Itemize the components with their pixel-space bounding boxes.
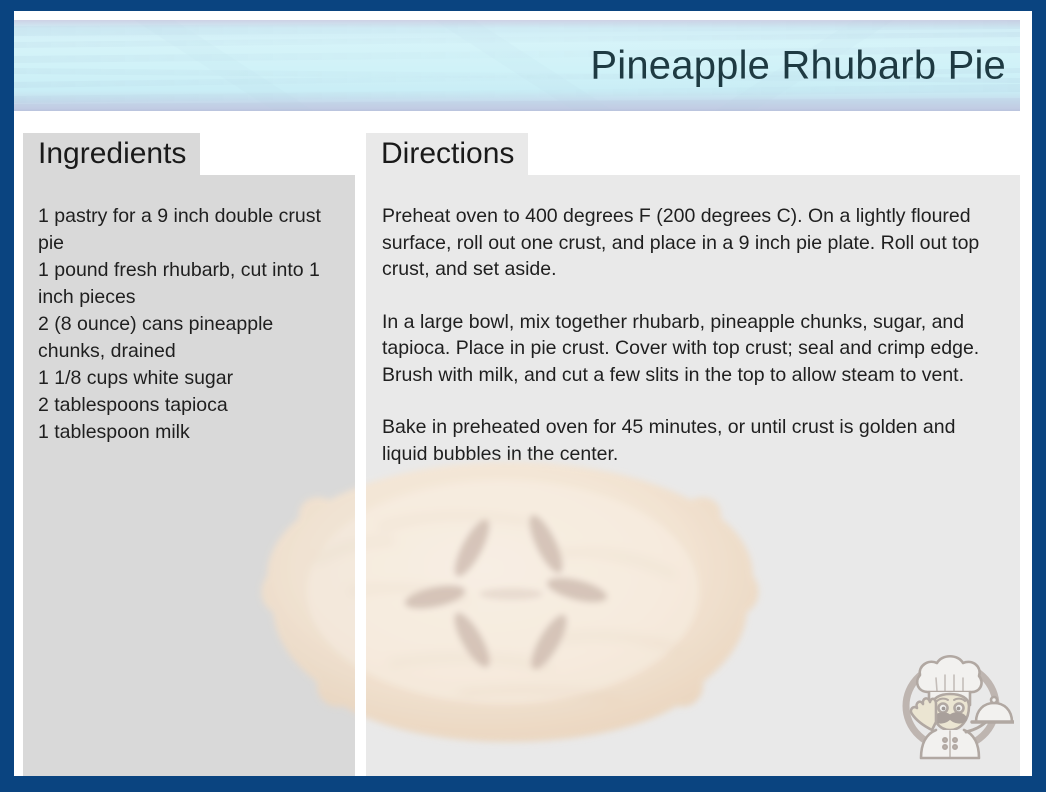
directions-steps: Preheat oven to 400 degrees F (200 degre… [366, 175, 1020, 467]
ingredients-heading: Ingredients [23, 133, 200, 175]
card-inner: Pineapple Rhubarb Pie Ingredients 1 past… [14, 11, 1032, 776]
list-item: 2 tablespoons tapioca [38, 392, 343, 419]
list-item: 1 pound fresh rhubarb, cut into 1 inch p… [38, 257, 343, 311]
list-item: 1 pastry for a 9 inch double crust pie [38, 203, 343, 257]
direction-paragraph: In a large bowl, mix together rhubarb, p… [382, 309, 1006, 389]
recipe-card-page: Pineapple Rhubarb Pie Ingredients 1 past… [0, 0, 1046, 792]
list-item: 2 (8 ounce) cans pineapple chunks, drain… [38, 311, 343, 365]
list-item: 1 tablespoon milk [38, 419, 343, 446]
directions-panel: Preheat oven to 400 degrees F (200 degre… [366, 175, 1020, 776]
page-title: Pineapple Rhubarb Pie [590, 43, 1006, 88]
directions-heading: Directions [366, 133, 528, 175]
right-margin-strip [1020, 122, 1032, 776]
title-banner: Pineapple Rhubarb Pie [14, 20, 1020, 111]
ingredients-column: Ingredients 1 pastry for a 9 inch double… [23, 122, 355, 776]
direction-paragraph: Preheat oven to 400 degrees F (200 degre… [382, 203, 1006, 283]
content-columns: Ingredients 1 pastry for a 9 inch double… [14, 122, 1032, 776]
directions-column: Directions Preheat oven to 400 degrees F… [366, 122, 1020, 776]
ingredients-list: 1 pastry for a 9 inch double crust pie 1… [23, 175, 355, 446]
direction-paragraph: Bake in preheated oven for 45 minutes, o… [382, 414, 1006, 467]
column-gutter [355, 122, 366, 776]
left-margin-strip [14, 122, 23, 776]
list-item: 1 1/8 cups white sugar [38, 365, 343, 392]
ingredients-panel: 1 pastry for a 9 inch double crust pie 1… [23, 175, 355, 776]
